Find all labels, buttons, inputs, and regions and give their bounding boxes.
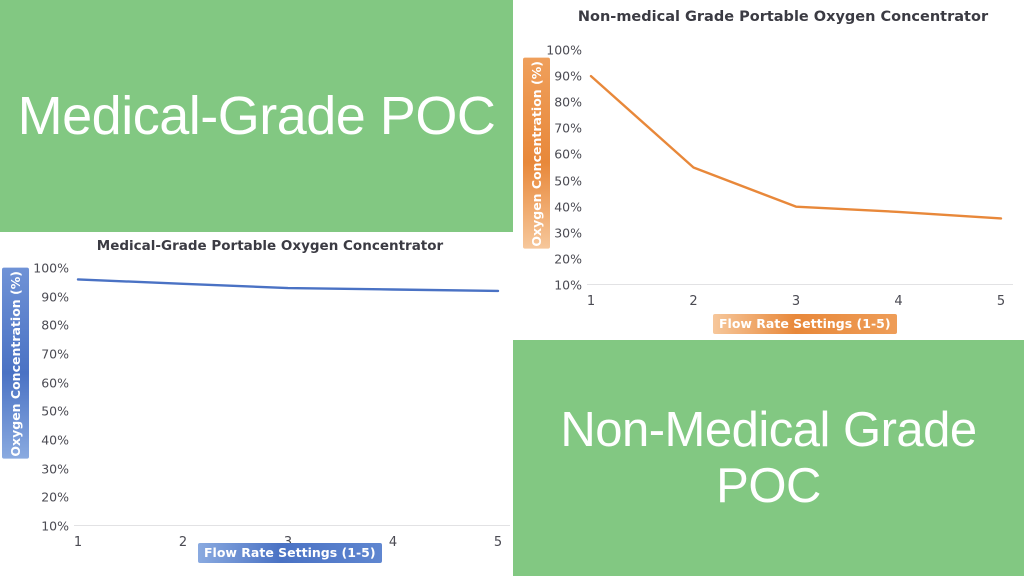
x-axis-tick-label: 1 bbox=[587, 294, 595, 309]
y-axis-title-non-medical-grade: Oxygen Concentration (%) bbox=[523, 58, 550, 249]
chart-medical-grade: Medical-Grade Portable Oxygen Concentrat… bbox=[0, 232, 513, 576]
x-axis-tick-label: 4 bbox=[894, 294, 902, 309]
x-axis-tick-label: 1 bbox=[74, 535, 82, 550]
y-axis-tick-label: 50% bbox=[41, 404, 78, 419]
x-axis-tick-label: 2 bbox=[689, 294, 697, 309]
comparison-infographic: Medical-Grade POC Non-Medical Grade POC … bbox=[0, 0, 1024, 576]
y-axis-tick-label: 90% bbox=[554, 69, 591, 84]
banner-medical-grade-text: Medical-Grade POC bbox=[18, 85, 496, 147]
y-axis-tick-label: 50% bbox=[554, 173, 591, 188]
y-axis-tick-label: 30% bbox=[41, 461, 78, 476]
x-axis-tick-label: 4 bbox=[389, 535, 397, 550]
banner-non-medical-grade-text: Non-Medical Grade POC bbox=[513, 402, 1024, 515]
y-axis-tick-label: 90% bbox=[41, 289, 78, 304]
y-axis-tick-label: 100% bbox=[546, 43, 591, 58]
y-axis-tick-label: 10% bbox=[41, 519, 78, 534]
y-axis-tick-label: 30% bbox=[554, 225, 591, 240]
y-axis-tick-label: 20% bbox=[41, 490, 78, 505]
x-axis-title-non-medical-grade: Flow Rate Settings (1-5) bbox=[713, 314, 897, 334]
chart-non-medical-grade: Non-medical Grade Portable Oxygen Concen… bbox=[513, 0, 1024, 340]
x-axis-tick-label: 3 bbox=[792, 294, 800, 309]
y-axis-tick-label: 60% bbox=[41, 375, 78, 390]
series-line-medical-grade bbox=[78, 268, 498, 526]
series-line-non-medical-grade bbox=[591, 50, 1001, 285]
y-axis-tick-label: 20% bbox=[554, 251, 591, 266]
y-axis-tick-label: 70% bbox=[41, 347, 78, 362]
banner-medical-grade: Medical-Grade POC bbox=[0, 0, 513, 232]
banner-non-medical-grade: Non-Medical Grade POC bbox=[513, 340, 1024, 576]
y-axis-tick-label: 80% bbox=[554, 95, 591, 110]
x-axis-tick-label: 5 bbox=[494, 535, 502, 550]
x-axis-title-medical-grade: Flow Rate Settings (1-5) bbox=[198, 543, 382, 563]
y-axis-title-medical-grade: Oxygen Concentration (%) bbox=[2, 268, 29, 459]
y-axis-tick-label: 10% bbox=[554, 278, 591, 293]
plot-area-non-medical-grade: 100%90%80%70%60%50%40%30%20%10%12345 bbox=[591, 50, 1001, 285]
y-axis-tick-label: 70% bbox=[554, 121, 591, 136]
y-axis-tick-label: 80% bbox=[41, 318, 78, 333]
x-axis-tick-label: 2 bbox=[179, 535, 187, 550]
chart-medical-grade-title: Medical-Grade Portable Oxygen Concentrat… bbox=[40, 238, 500, 255]
x-axis-tick-label: 5 bbox=[997, 294, 1005, 309]
chart-non-medical-grade-title: Non-medical Grade Portable Oxygen Concen… bbox=[573, 8, 993, 26]
y-axis-tick-label: 60% bbox=[554, 147, 591, 162]
y-axis-tick-label: 40% bbox=[554, 199, 591, 214]
plot-area-medical-grade: 100%90%80%70%60%50%40%30%20%10%12345 bbox=[78, 268, 498, 526]
y-axis-tick-label: 100% bbox=[33, 261, 78, 276]
y-axis-tick-label: 40% bbox=[41, 433, 78, 448]
